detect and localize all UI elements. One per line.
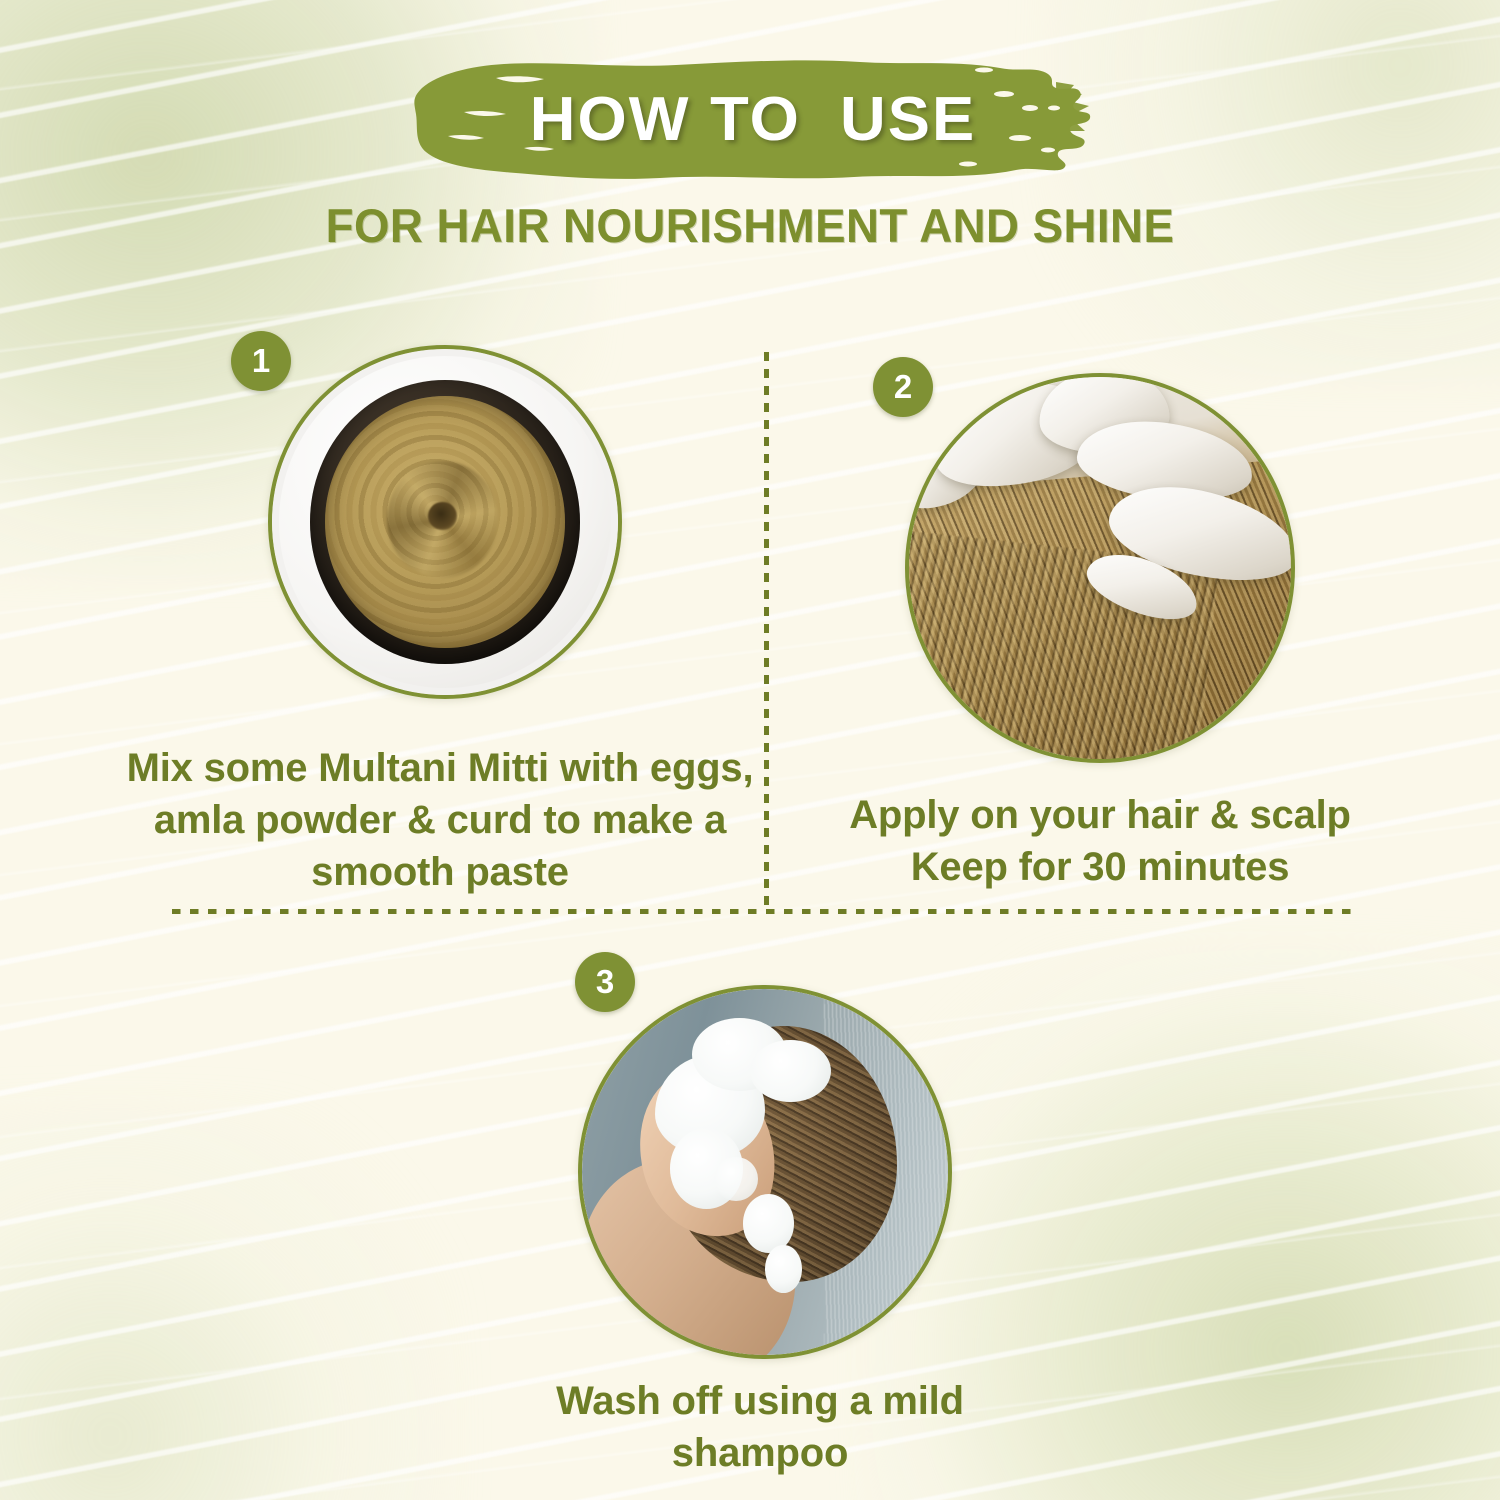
step-1-number-badge: 1 [231, 331, 291, 391]
step-2-photo [905, 373, 1295, 763]
step-1-caption: Mix some Multani Mitti with eggs, amla p… [110, 742, 770, 898]
step-2-number-badge: 2 [873, 357, 933, 417]
horizontal-dashed-divider [172, 909, 1352, 914]
step-3-photo [578, 985, 952, 1359]
infographic-canvas: HOW TO USE FOR HAIR NOURISHMENT AND SHIN… [0, 0, 1500, 1500]
step-1-photo [268, 345, 622, 699]
step-3-caption: Wash off using a mild shampoo [500, 1375, 1020, 1479]
page-subtitle: FOR HAIR NOURISHMENT AND SHINE [23, 198, 1478, 253]
watercolor-wash-top-right [1040, 0, 1500, 380]
watercolor-wash-bottom-left [0, 1100, 460, 1500]
step-2-caption: Apply on your hair & scalp Keep for 30 m… [820, 789, 1380, 893]
page-title: HOW TO USE [401, 52, 1105, 187]
step-3-number-badge: 3 [575, 952, 635, 1012]
